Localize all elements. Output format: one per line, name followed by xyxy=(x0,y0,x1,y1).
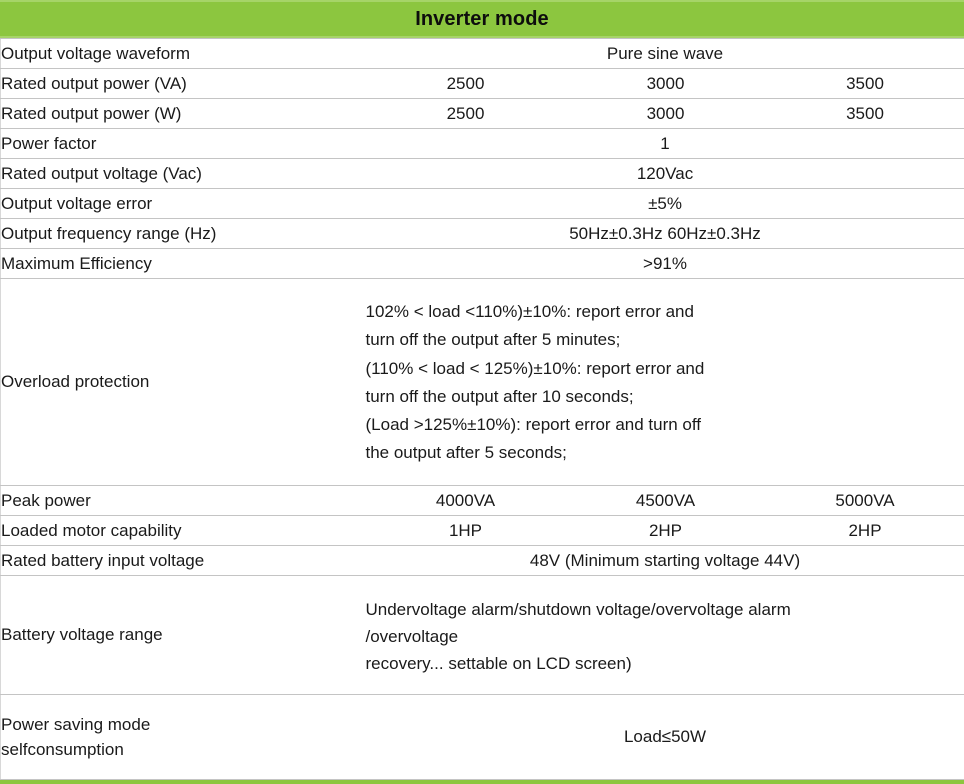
table-row: Maximum Efficiency >91% xyxy=(1,249,964,279)
table-row: Output frequency range (Hz) 50Hz±0.3Hz 6… xyxy=(1,219,964,249)
spec-label-rated-battery-input-voltage: Rated battery input voltage xyxy=(1,545,366,575)
spec-value-rated-output-power-w-model1: 2500 xyxy=(366,99,566,129)
table-row: Battery voltage range Undervoltage alarm… xyxy=(1,575,964,694)
inverter-mode-spec-sheet: Inverter mode Output voltage waveform Pu… xyxy=(0,0,964,784)
spec-value-rated-output-power-va-model1: 2500 xyxy=(366,69,566,99)
table-row: Power saving mode selfconsumption Load≤5… xyxy=(1,694,964,779)
spec-value-rated-output-power-w-model2: 3000 xyxy=(566,99,766,129)
specifications-table: Output voltage waveform Pure sine wave R… xyxy=(0,38,964,780)
spec-value-power-saving-mode: Load≤50W xyxy=(366,694,964,779)
table-row: Rated output voltage (Vac) 120Vac xyxy=(1,159,964,189)
spec-value-battery-voltage-range: Undervoltage alarm/shutdown voltage/over… xyxy=(366,575,964,694)
table-row: Output voltage error ±5% xyxy=(1,189,964,219)
spec-label-rated-output-power-w: Rated output power (W) xyxy=(1,99,366,129)
overload-protection-text: 102% < load <110%)±10%: report error and… xyxy=(366,296,964,468)
spec-label-rated-output-voltage: Rated output voltage (Vac) xyxy=(1,159,366,189)
page-title: Inverter mode xyxy=(415,9,549,29)
spec-value-rated-output-voltage: 120Vac xyxy=(366,159,964,189)
spec-label-maximum-efficiency: Maximum Efficiency xyxy=(1,249,366,279)
table-row: Power factor 1 xyxy=(1,129,964,159)
spec-label-rated-output-power-va: Rated output power (VA) xyxy=(1,69,366,99)
spec-value-maximum-efficiency: >91% xyxy=(366,249,964,279)
table-row: Rated output power (W) 2500 3000 3500 xyxy=(1,99,964,129)
spec-value-rated-output-power-va-model3: 3500 xyxy=(766,69,964,99)
table-row: Rated output power (VA) 2500 3000 3500 xyxy=(1,69,964,99)
spec-sheet-title-banner: Inverter mode xyxy=(0,0,964,38)
spec-value-loaded-motor-capability-model1: 1HP xyxy=(366,515,566,545)
spec-value-loaded-motor-capability-model3: 2HP xyxy=(766,515,964,545)
spec-value-output-voltage-waveform: Pure sine wave xyxy=(366,39,964,69)
spec-value-rated-output-power-w-model3: 3500 xyxy=(766,99,964,129)
spec-value-loaded-motor-capability-model2: 2HP xyxy=(566,515,766,545)
table-row: Loaded motor capability 1HP 2HP 2HP xyxy=(1,515,964,545)
spec-label-output-voltage-error: Output voltage error xyxy=(1,189,366,219)
spec-value-rated-battery-input-voltage: 48V (Minimum starting voltage 44V) xyxy=(366,545,964,575)
power-saving-mode-label-text: Power saving mode selfconsumption xyxy=(1,712,366,762)
spec-label-power-saving-mode: Power saving mode selfconsumption xyxy=(1,694,366,779)
spec-label-battery-voltage-range: Battery voltage range xyxy=(1,575,366,694)
table-row: Output voltage waveform Pure sine wave xyxy=(1,39,964,69)
battery-voltage-range-text: Undervoltage alarm/shutdown voltage/over… xyxy=(366,593,964,677)
specifications-table-body: Output voltage waveform Pure sine wave R… xyxy=(1,39,964,780)
spec-value-rated-output-power-va-model2: 3000 xyxy=(566,69,766,99)
spec-value-peak-power-model1: 4000VA xyxy=(366,485,566,515)
spec-label-output-frequency-range: Output frequency range (Hz) xyxy=(1,219,366,249)
footer-green-rule xyxy=(0,780,964,784)
spec-value-peak-power-model2: 4500VA xyxy=(566,485,766,515)
table-row: Overload protection 102% < load <110%)±1… xyxy=(1,279,964,486)
spec-label-peak-power: Peak power xyxy=(1,485,366,515)
table-row: Rated battery input voltage 48V (Minimum… xyxy=(1,545,964,575)
spec-value-peak-power-model3: 5000VA xyxy=(766,485,964,515)
spec-label-overload-protection: Overload protection xyxy=(1,279,366,486)
spec-label-loaded-motor-capability: Loaded motor capability xyxy=(1,515,366,545)
spec-label-power-factor: Power factor xyxy=(1,129,366,159)
spec-value-overload-protection: 102% < load <110%)±10%: report error and… xyxy=(366,279,964,486)
table-row: Peak power 4000VA 4500VA 5000VA xyxy=(1,485,964,515)
spec-value-power-factor: 1 xyxy=(366,129,964,159)
spec-value-output-voltage-error: ±5% xyxy=(366,189,964,219)
spec-label-output-voltage-waveform: Output voltage waveform xyxy=(1,39,366,69)
spec-value-output-frequency-range: 50Hz±0.3Hz 60Hz±0.3Hz xyxy=(366,219,964,249)
